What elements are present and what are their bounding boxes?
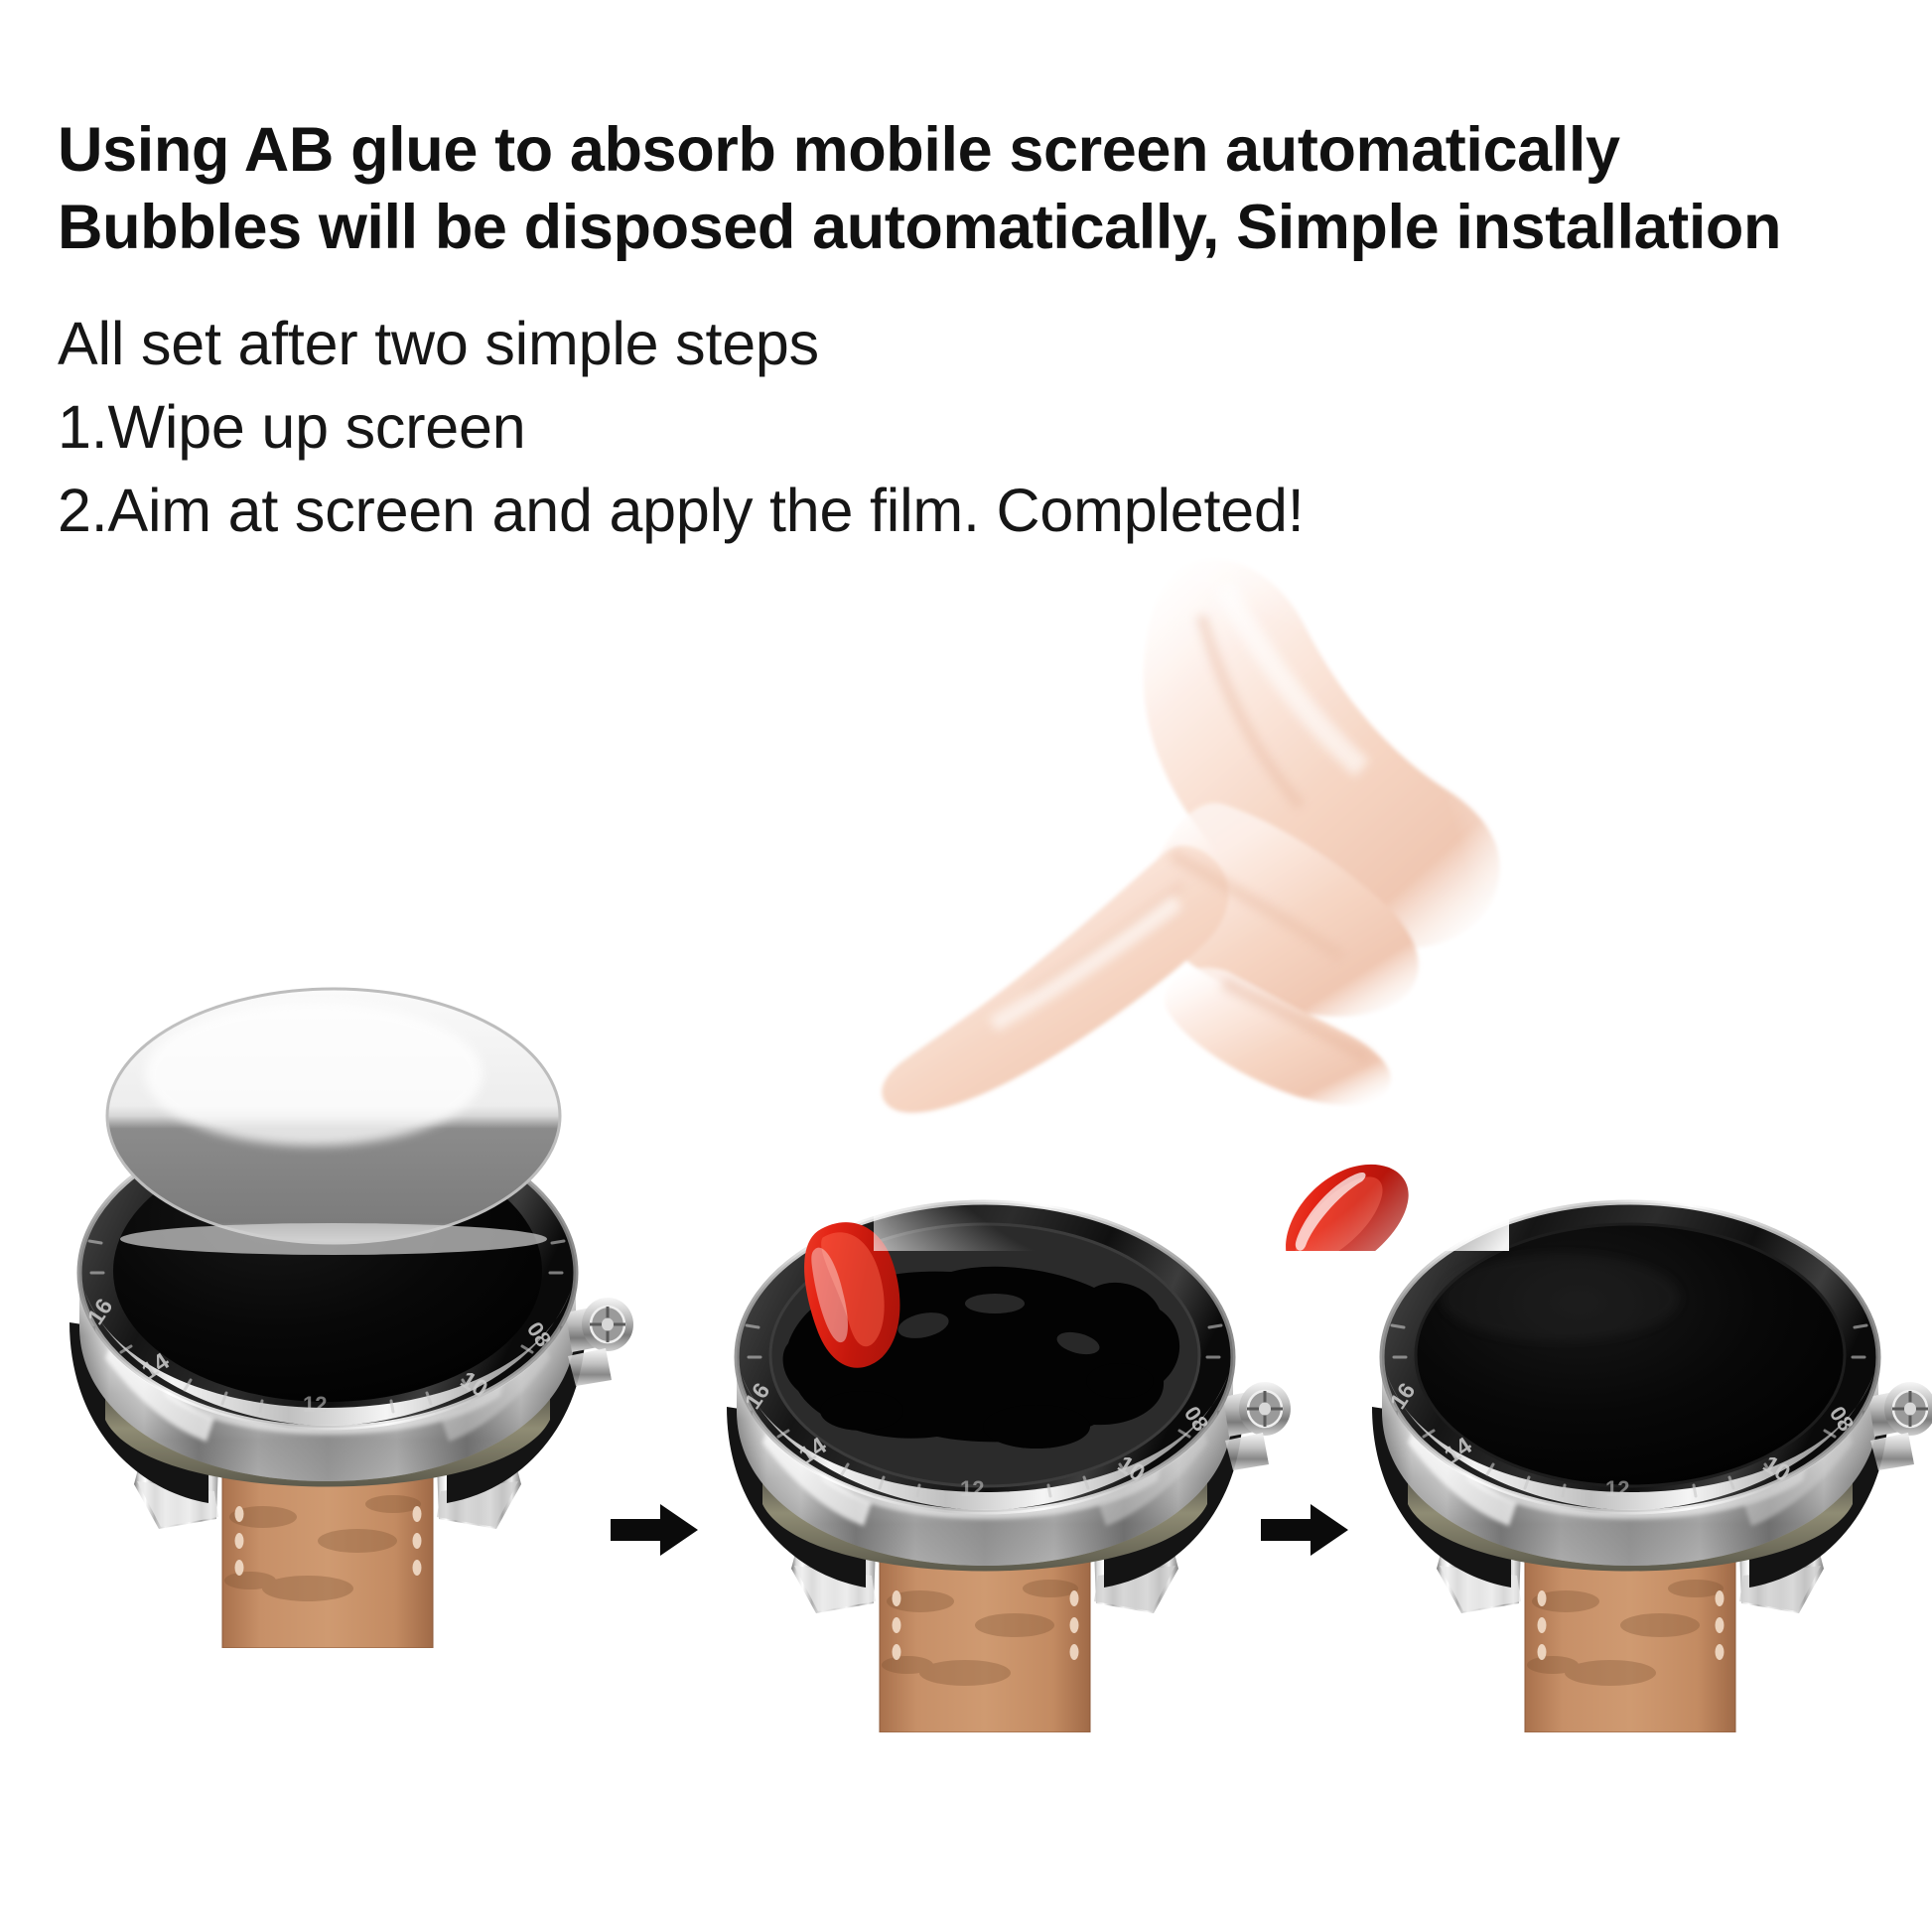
step-separator-arrow-1 <box>609 1501 700 1559</box>
hand-applying-film <box>874 556 1509 1251</box>
hand-edge-fade <box>874 556 1509 1251</box>
watch-step-2 <box>667 1176 1303 1732</box>
right-arrow-icon <box>1261 1504 1348 1556</box>
installation-illustration: 16 14 12 10 08 <box>0 0 1932 1932</box>
right-arrow-icon <box>611 1504 698 1556</box>
watch-step-3 <box>1312 1176 1932 1732</box>
step-separator-arrow-2 <box>1259 1501 1350 1559</box>
watch-step-1 <box>10 1092 645 1648</box>
